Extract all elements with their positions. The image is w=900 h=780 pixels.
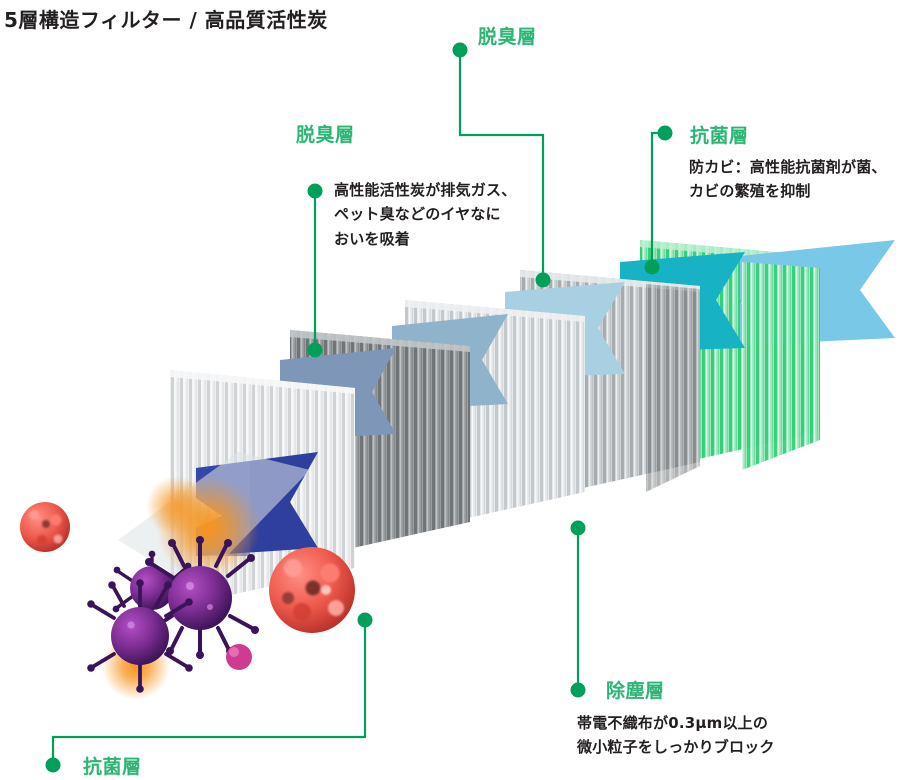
callout-label-antibacterial-left: 抗菌層: [83, 752, 142, 779]
marker-deodorizing-top: [453, 43, 468, 58]
callout-desc-antibacterial-right: 防カビ：高性能抗菌剤が菌、 カビの繁殖を抑制: [689, 155, 887, 204]
callout-label-deodorizing-top: 脱臭層: [478, 22, 537, 49]
virus-particle-red-1: [20, 502, 70, 552]
marker-deodorizing-top-target: [536, 273, 551, 288]
callout-desc-deodorizing-mid: 高性能活性炭が排気ガス、 ペット臭などのイヤなに おいを吸着: [334, 178, 516, 251]
callout-label-antibacterial-right: 抗菌層: [690, 121, 749, 148]
marker-deodorizing-mid: [308, 184, 323, 199]
connector-antibacterial-left: [53, 620, 365, 765]
callout-desc-dust-removal: 帯電不織布が0.3μm以上の 微小粒子をしっかりブロック: [577, 711, 775, 760]
marker-antibacterial-right: [658, 126, 673, 141]
marker-dust-removal-target: [571, 521, 586, 536]
virus-particle-magenta-dot: [226, 644, 252, 670]
callout-label-deodorizing-mid: 脱臭層: [296, 120, 355, 147]
marker-antibacterial-right-target: [645, 260, 660, 275]
filter-layer-antibacterial-back-front-face: [742, 262, 820, 470]
marker-antibacterial-left: [46, 758, 61, 773]
marker-dust-removal: [571, 683, 586, 698]
marker-antibacterial-left-target: [358, 613, 373, 628]
virus-particle-red-2: [269, 547, 355, 633]
page-title: 5層構造フィルター / 高品質活性炭: [4, 4, 328, 33]
callout-label-dust-removal: 除塵層: [606, 676, 665, 703]
marker-deodorizing-mid-target: [308, 343, 323, 358]
filter-diagram: 5層構造フィルター / 高品質活性炭 脱臭層 脱臭層 高性能活性炭が排気ガス、 …: [0, 0, 900, 780]
filter-illustration: [0, 0, 900, 780]
